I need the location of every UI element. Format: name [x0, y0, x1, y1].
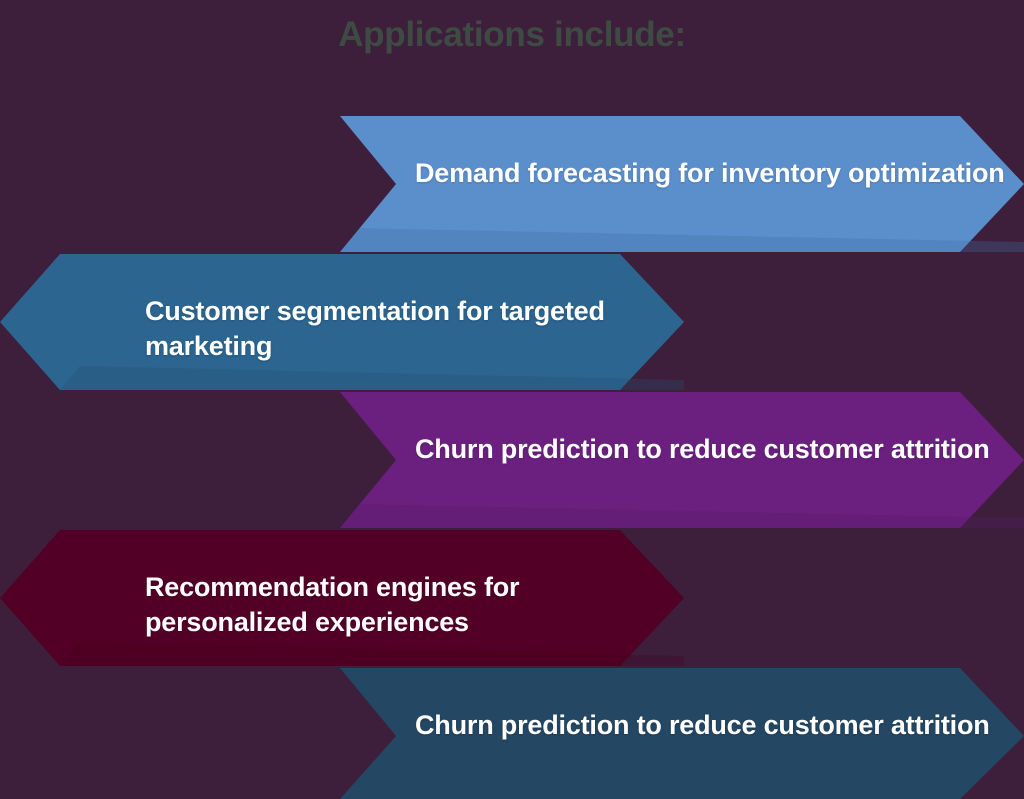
chevron-band-1[interactable]: Demand forecasting for inventory optimiz… [340, 116, 1024, 252]
chevron-band-1-label: Demand forecasting for inventory optimiz… [415, 156, 1005, 191]
chevron-band-2[interactable]: Customer segmentation for targeted marke… [0, 254, 684, 390]
chevron-band-2-label: Customer segmentation for targeted marke… [145, 294, 684, 364]
chevron-band-5-label: Churn prediction to reduce customer attr… [415, 708, 990, 743]
chevron-band-4[interactable]: Recommendation engines for personalized … [0, 530, 684, 666]
page-title: Applications include: [0, 16, 1024, 55]
chevron-band-4-label: Recommendation engines for personalized … [145, 570, 684, 640]
applications-slide: Applications include: Demand forecasting… [0, 0, 1024, 799]
chevron-band-3-label: Churn prediction to reduce customer attr… [415, 432, 990, 467]
chevron-band-3[interactable]: Churn prediction to reduce customer attr… [340, 392, 1024, 528]
chevron-band-5[interactable]: Churn prediction to reduce customer attr… [340, 668, 1024, 799]
